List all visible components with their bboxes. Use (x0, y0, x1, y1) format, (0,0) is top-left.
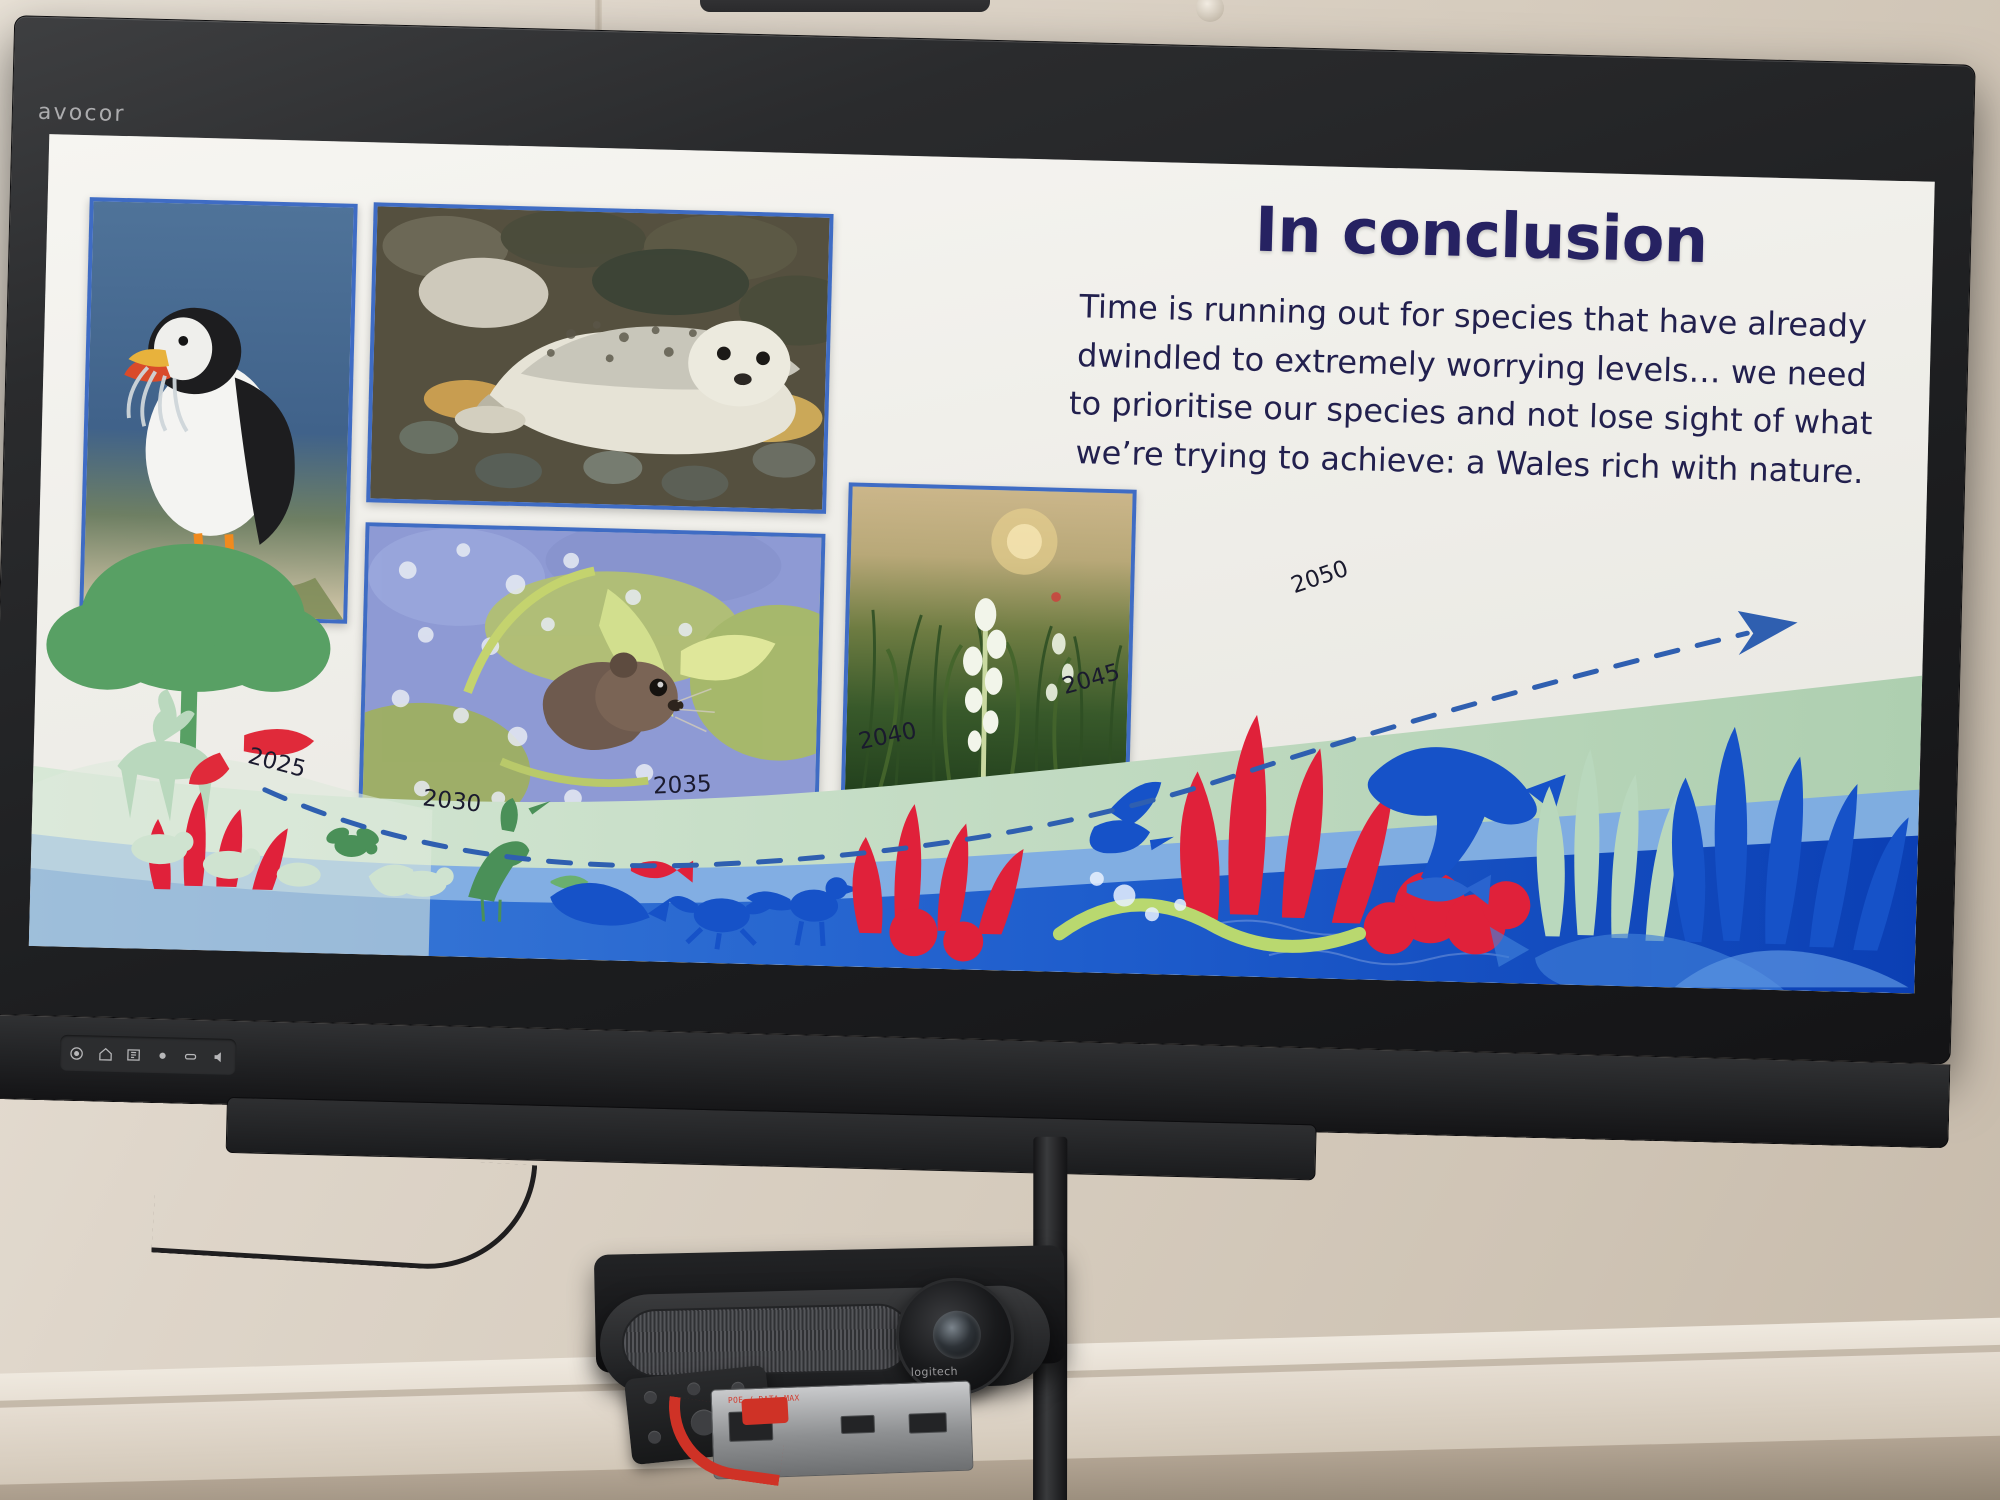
menu-icon[interactable] (155, 1048, 170, 1063)
remote-button[interactable] (647, 1430, 661, 1444)
presentation-slide: In conclusion Time is running out for sp… (29, 134, 1935, 993)
tv-screen[interactable]: In conclusion Time is running out for sp… (29, 134, 1935, 993)
avocor-logo: avocor (38, 100, 126, 127)
year-label-2035: 2035 (653, 771, 713, 800)
webcam-speaker-grille (621, 1303, 913, 1378)
dock-usb-port (841, 1415, 876, 1434)
power-icon[interactable] (69, 1045, 84, 1060)
minus-icon[interactable] (183, 1048, 198, 1063)
home-icon[interactable] (98, 1046, 113, 1061)
display-assembly: avocor (0, 15, 1976, 1294)
input-source-icon[interactable] (126, 1047, 141, 1062)
seal-photo (366, 202, 833, 514)
slide-body-text: Time is running out for species that hav… (1049, 282, 1894, 498)
remote-button[interactable] (643, 1390, 657, 1404)
room-scene: avocor (0, 0, 2000, 1500)
volume-icon[interactable] (212, 1049, 227, 1064)
webcam-lens (895, 1276, 1016, 1397)
tv-control-panel[interactable] (60, 1035, 237, 1075)
red-cable-plug (741, 1397, 788, 1425)
ceiling-fixture (700, 0, 990, 12)
slide-title: In conclusion (1066, 188, 1896, 282)
power-cable (151, 1143, 537, 1276)
remote-button[interactable] (687, 1382, 701, 1396)
eco-svg (29, 516, 1925, 994)
ecosystem-timeline-graphic: 2025 2030 2035 2040 2045 2050 (29, 516, 1925, 994)
logitech-logo: logitech (911, 1365, 958, 1379)
dock-hdmi-port (908, 1412, 947, 1433)
